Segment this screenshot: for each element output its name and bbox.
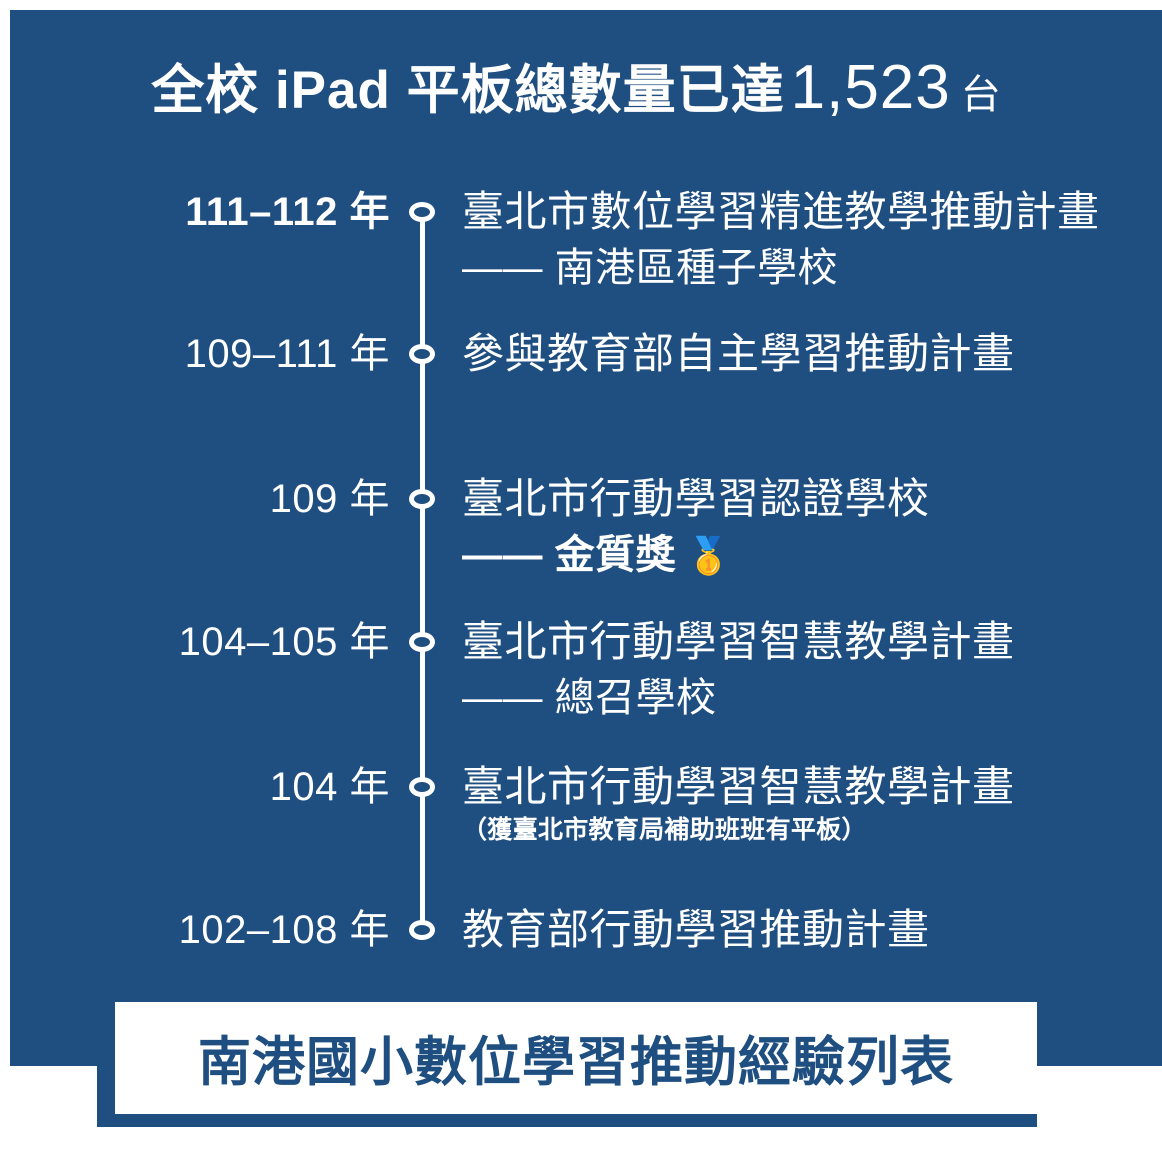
timeline-body: 教育部行動學習推動計畫 bbox=[454, 903, 1152, 957]
poster-root: 全校 iPad 平板總數量已達1,523台 111–112 年 臺北市數位學習精… bbox=[0, 0, 1162, 1162]
timeline-title: 臺北市行動學習認證學校 bbox=[462, 472, 1152, 526]
page-title-unit: 台 bbox=[957, 73, 1001, 117]
banner-box: 南港國小數位學習推動經驗列表 bbox=[115, 1002, 1037, 1114]
timeline-year-label: 102–108 年 bbox=[0, 903, 390, 957]
timeline-title: 教育部行動學習推動計畫 bbox=[462, 903, 1152, 957]
timeline-node-icon bbox=[409, 920, 435, 940]
timeline-year-label: 109 年 bbox=[0, 472, 390, 526]
timeline-row[interactable]: 111–112 年 臺北市數位學習精進教學推動計畫 —— 南港區種子學校 bbox=[0, 185, 1152, 297]
timeline-year-label: 111–112 年 bbox=[0, 185, 390, 239]
timeline-node-cell bbox=[390, 185, 454, 239]
timeline-node-icon bbox=[409, 777, 435, 797]
timeline-node-cell bbox=[390, 760, 454, 814]
timeline-note: （獲臺北市教育局補助班班有平板） bbox=[462, 812, 1152, 848]
timeline-row[interactable]: 102–108 年 教育部行動學習推動計畫 bbox=[0, 903, 1152, 957]
timeline-body: 臺北市數位學習精進教學推動計畫 —— 南港區種子學校 bbox=[454, 185, 1152, 297]
page-title: 全校 iPad 平板總數量已達1,523台 bbox=[0, 48, 1152, 124]
timeline-body: 臺北市行動學習智慧教學計畫 （獲臺北市教育局補助班班有平板） bbox=[454, 760, 1152, 848]
timeline-node-icon bbox=[409, 202, 435, 222]
timeline-node-cell bbox=[390, 472, 454, 526]
timeline-subtitle-text: —— 金質獎 bbox=[462, 533, 676, 577]
timeline-row[interactable]: 104–105 年 臺北市行動學習智慧教學計畫 —— 總召學校 bbox=[0, 615, 1152, 727]
timeline-subtitle: —— 南港區種子學校 bbox=[462, 239, 1152, 297]
timeline-title: 臺北市行動學習智慧教學計畫 bbox=[462, 760, 1152, 814]
bottom-banner: 南港國小數位學習推動經驗列表 bbox=[97, 1002, 1037, 1127]
timeline-node-cell bbox=[390, 327, 454, 381]
timeline-node-icon bbox=[409, 489, 435, 509]
timeline-title: 參與教育部自主學習推動計畫 bbox=[462, 327, 1152, 381]
timeline-node-icon bbox=[409, 344, 435, 364]
timeline-year-label: 104 年 bbox=[0, 760, 390, 814]
timeline: 111–112 年 臺北市數位學習精進教學推動計畫 —— 南港區種子學校 109… bbox=[0, 175, 1152, 975]
page-title-prefix: 全校 iPad 平板總數量已達 bbox=[151, 61, 784, 120]
timeline-body: 參與教育部自主學習推動計畫 bbox=[454, 327, 1152, 381]
banner-label: 南港國小數位學習推動經驗列表 bbox=[198, 1020, 954, 1096]
timeline-year-label: 109–111 年 bbox=[0, 327, 390, 381]
timeline-node-cell bbox=[390, 615, 454, 669]
timeline-title: 臺北市數位學習精進教學推動計畫 bbox=[462, 185, 1152, 239]
timeline-row[interactable]: 104 年 臺北市行動學習智慧教學計畫 （獲臺北市教育局補助班班有平板） bbox=[0, 760, 1152, 848]
ipad-total-count: 1,523 bbox=[785, 53, 957, 122]
timeline-body: 臺北市行動學習智慧教學計畫 —— 總召學校 bbox=[454, 615, 1152, 727]
timeline-node-cell bbox=[390, 903, 454, 957]
timeline-year-label: 104–105 年 bbox=[0, 615, 390, 669]
timeline-subtitle: —— 總召學校 bbox=[462, 669, 1152, 727]
timeline-body: 臺北市行動學習認證學校 —— 金質獎🥇 bbox=[454, 472, 1152, 585]
timeline-row[interactable]: 109 年 臺北市行動學習認證學校 —— 金質獎🥇 bbox=[0, 472, 1152, 585]
timeline-row[interactable]: 109–111 年 參與教育部自主學習推動計畫 bbox=[0, 327, 1152, 381]
timeline-node-icon bbox=[409, 632, 435, 652]
timeline-subtitle: —— 金質獎🥇 bbox=[462, 526, 1152, 585]
gold-medal-icon: 🥇 bbox=[676, 535, 731, 576]
timeline-title: 臺北市行動學習智慧教學計畫 bbox=[462, 615, 1152, 669]
